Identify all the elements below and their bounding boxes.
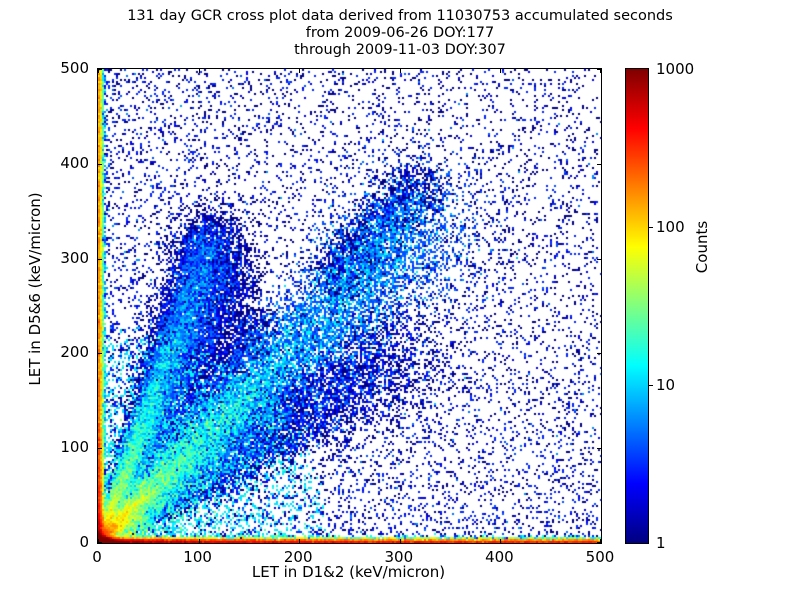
x-tick-mark-top bbox=[500, 69, 501, 73]
y-tick-label: 400 bbox=[9, 154, 89, 172]
y-tick-label: 100 bbox=[9, 438, 89, 456]
title-line-3: through 2009-11-03 DOY:307 bbox=[0, 42, 800, 59]
colorbar-tick-label: 1000 bbox=[656, 60, 694, 78]
title-line-2: from 2009-06-26 DOY:177 bbox=[0, 25, 800, 42]
y-tick-label: 0 bbox=[9, 533, 89, 551]
y-tick-label: 300 bbox=[9, 249, 89, 267]
x-tick-mark-top bbox=[600, 69, 601, 73]
y-tick-label: 500 bbox=[9, 59, 89, 77]
x-tick-mark bbox=[500, 539, 501, 543]
y-tick-mark bbox=[98, 164, 102, 165]
x-tick-mark bbox=[400, 539, 401, 543]
x-tick-mark bbox=[600, 539, 601, 543]
x-tick-mark-top bbox=[299, 69, 300, 73]
x-tick-mark-top bbox=[98, 69, 99, 73]
y-tick-mark-right bbox=[597, 448, 601, 449]
figure-canvas: 131 day GCR cross plot data derived from… bbox=[0, 0, 800, 600]
title-line-1: 131 day GCR cross plot data derived from… bbox=[0, 8, 800, 25]
y-tick-mark bbox=[98, 353, 102, 354]
density-scatter-plot bbox=[98, 69, 601, 543]
figure-title: 131 day GCR cross plot data derived from… bbox=[0, 8, 800, 59]
y-tick-mark bbox=[98, 448, 102, 449]
colorbar-tick-label: 1 bbox=[656, 534, 666, 552]
y-tick-mark-right bbox=[597, 259, 601, 260]
x-tick-mark-top bbox=[400, 69, 401, 73]
colorbar: 1000100101 bbox=[625, 68, 649, 544]
y-tick-mark-right bbox=[597, 164, 601, 165]
colorbar-tick-mark bbox=[648, 227, 653, 228]
y-tick-mark-right bbox=[597, 353, 601, 354]
colorbar-title: Counts bbox=[693, 177, 711, 317]
y-tick-label: 200 bbox=[9, 343, 89, 361]
colorbar-tick-label: 10 bbox=[656, 376, 675, 394]
x-tick-mark bbox=[98, 539, 99, 543]
x-tick-mark bbox=[299, 539, 300, 543]
y-tick-mark bbox=[98, 259, 102, 260]
x-tick-mark-top bbox=[199, 69, 200, 73]
x-axis-title: LET in D1&2 (keV/micron) bbox=[97, 563, 600, 581]
colorbar-tick-label: 100 bbox=[656, 218, 685, 236]
colorbar-tick-mark bbox=[648, 385, 653, 386]
colorbar-gradient bbox=[626, 69, 648, 543]
plot-area bbox=[97, 68, 602, 544]
y-axis-title: LET in D5&6 (keV/micron) bbox=[26, 129, 44, 449]
x-tick-mark bbox=[199, 539, 200, 543]
